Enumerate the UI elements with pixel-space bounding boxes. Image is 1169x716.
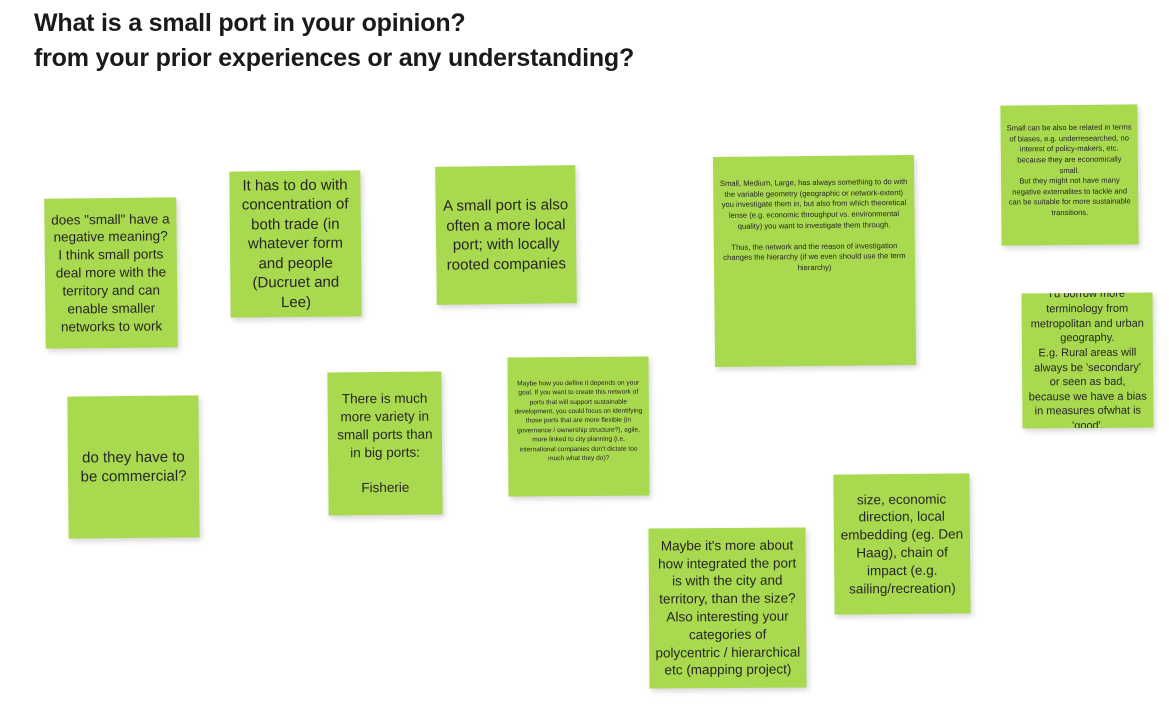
sticky-note[interactable]: Small, Medium, Large, has always somethi… (713, 155, 916, 367)
page-title: What is a small port in your opinion? fr… (34, 6, 1034, 75)
sticky-note-text: It has to do with concentration of both … (229, 175, 361, 313)
sticky-note-text: I'd borrow more terminology from metropo… (1022, 293, 1154, 429)
sticky-note[interactable]: Small can be also be related in terms of… (1000, 104, 1138, 245)
sticky-note-text: do they have to be commercial? (68, 447, 199, 487)
sticky-note[interactable]: do they have to be commercial? (67, 395, 199, 538)
sticky-note[interactable]: does "small" have a negative meaning? I … (44, 197, 178, 348)
sticky-note-text: Maybe how you define it depends on your … (508, 379, 650, 464)
sticky-note[interactable]: A small port is also often a more local … (435, 165, 577, 305)
sticky-note-text: does "small" have a negative meaning? I … (44, 210, 177, 336)
sticky-note-text: Small can be also be related in terms of… (1001, 122, 1139, 219)
sticky-note[interactable]: size, economic direction, local embeddin… (833, 473, 970, 614)
sticky-note[interactable]: Maybe how you define it depends on your … (508, 357, 650, 497)
sticky-note-text: A small port is also often a more local … (436, 195, 577, 275)
sticky-note-board: What is a small port in your opinion? fr… (0, 0, 1169, 716)
sticky-note-text: Maybe it's more about how integrated the… (649, 536, 807, 680)
sticky-note-text: There is much more variety in small port… (328, 390, 443, 498)
sticky-note[interactable]: It has to do with concentration of both … (229, 170, 361, 317)
sticky-note[interactable]: Maybe it's more about how integrated the… (648, 527, 806, 688)
sticky-note-text: Small, Medium, Large, has always somethi… (713, 177, 915, 275)
sticky-note-text: size, economic direction, local embeddin… (834, 490, 971, 598)
sticky-note[interactable]: I'd borrow more terminology from metropo… (1022, 293, 1154, 429)
sticky-note[interactable]: There is much more variety in small port… (327, 372, 442, 516)
